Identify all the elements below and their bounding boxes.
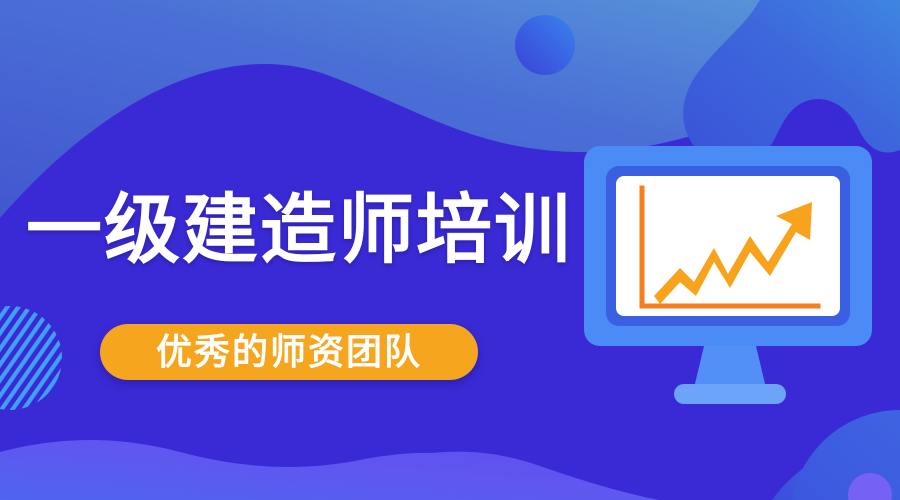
monitor-chart-icon <box>580 140 880 420</box>
content-layer: 一级建造师培训 优秀的师资团队 <box>0 0 900 500</box>
monitor-stand-base <box>674 384 786 404</box>
monitor-stand-neck <box>694 346 766 388</box>
promo-banner: 一级建造师培训 优秀的师资团队 <box>0 0 900 500</box>
monitor-illustration <box>580 140 880 420</box>
page-title: 一级建造师培训 <box>26 193 572 269</box>
subtitle-badge-label: 优秀的师资团队 <box>156 334 422 370</box>
monitor-screen <box>616 176 840 316</box>
subtitle-badge: 优秀的师资团队 <box>100 324 478 380</box>
